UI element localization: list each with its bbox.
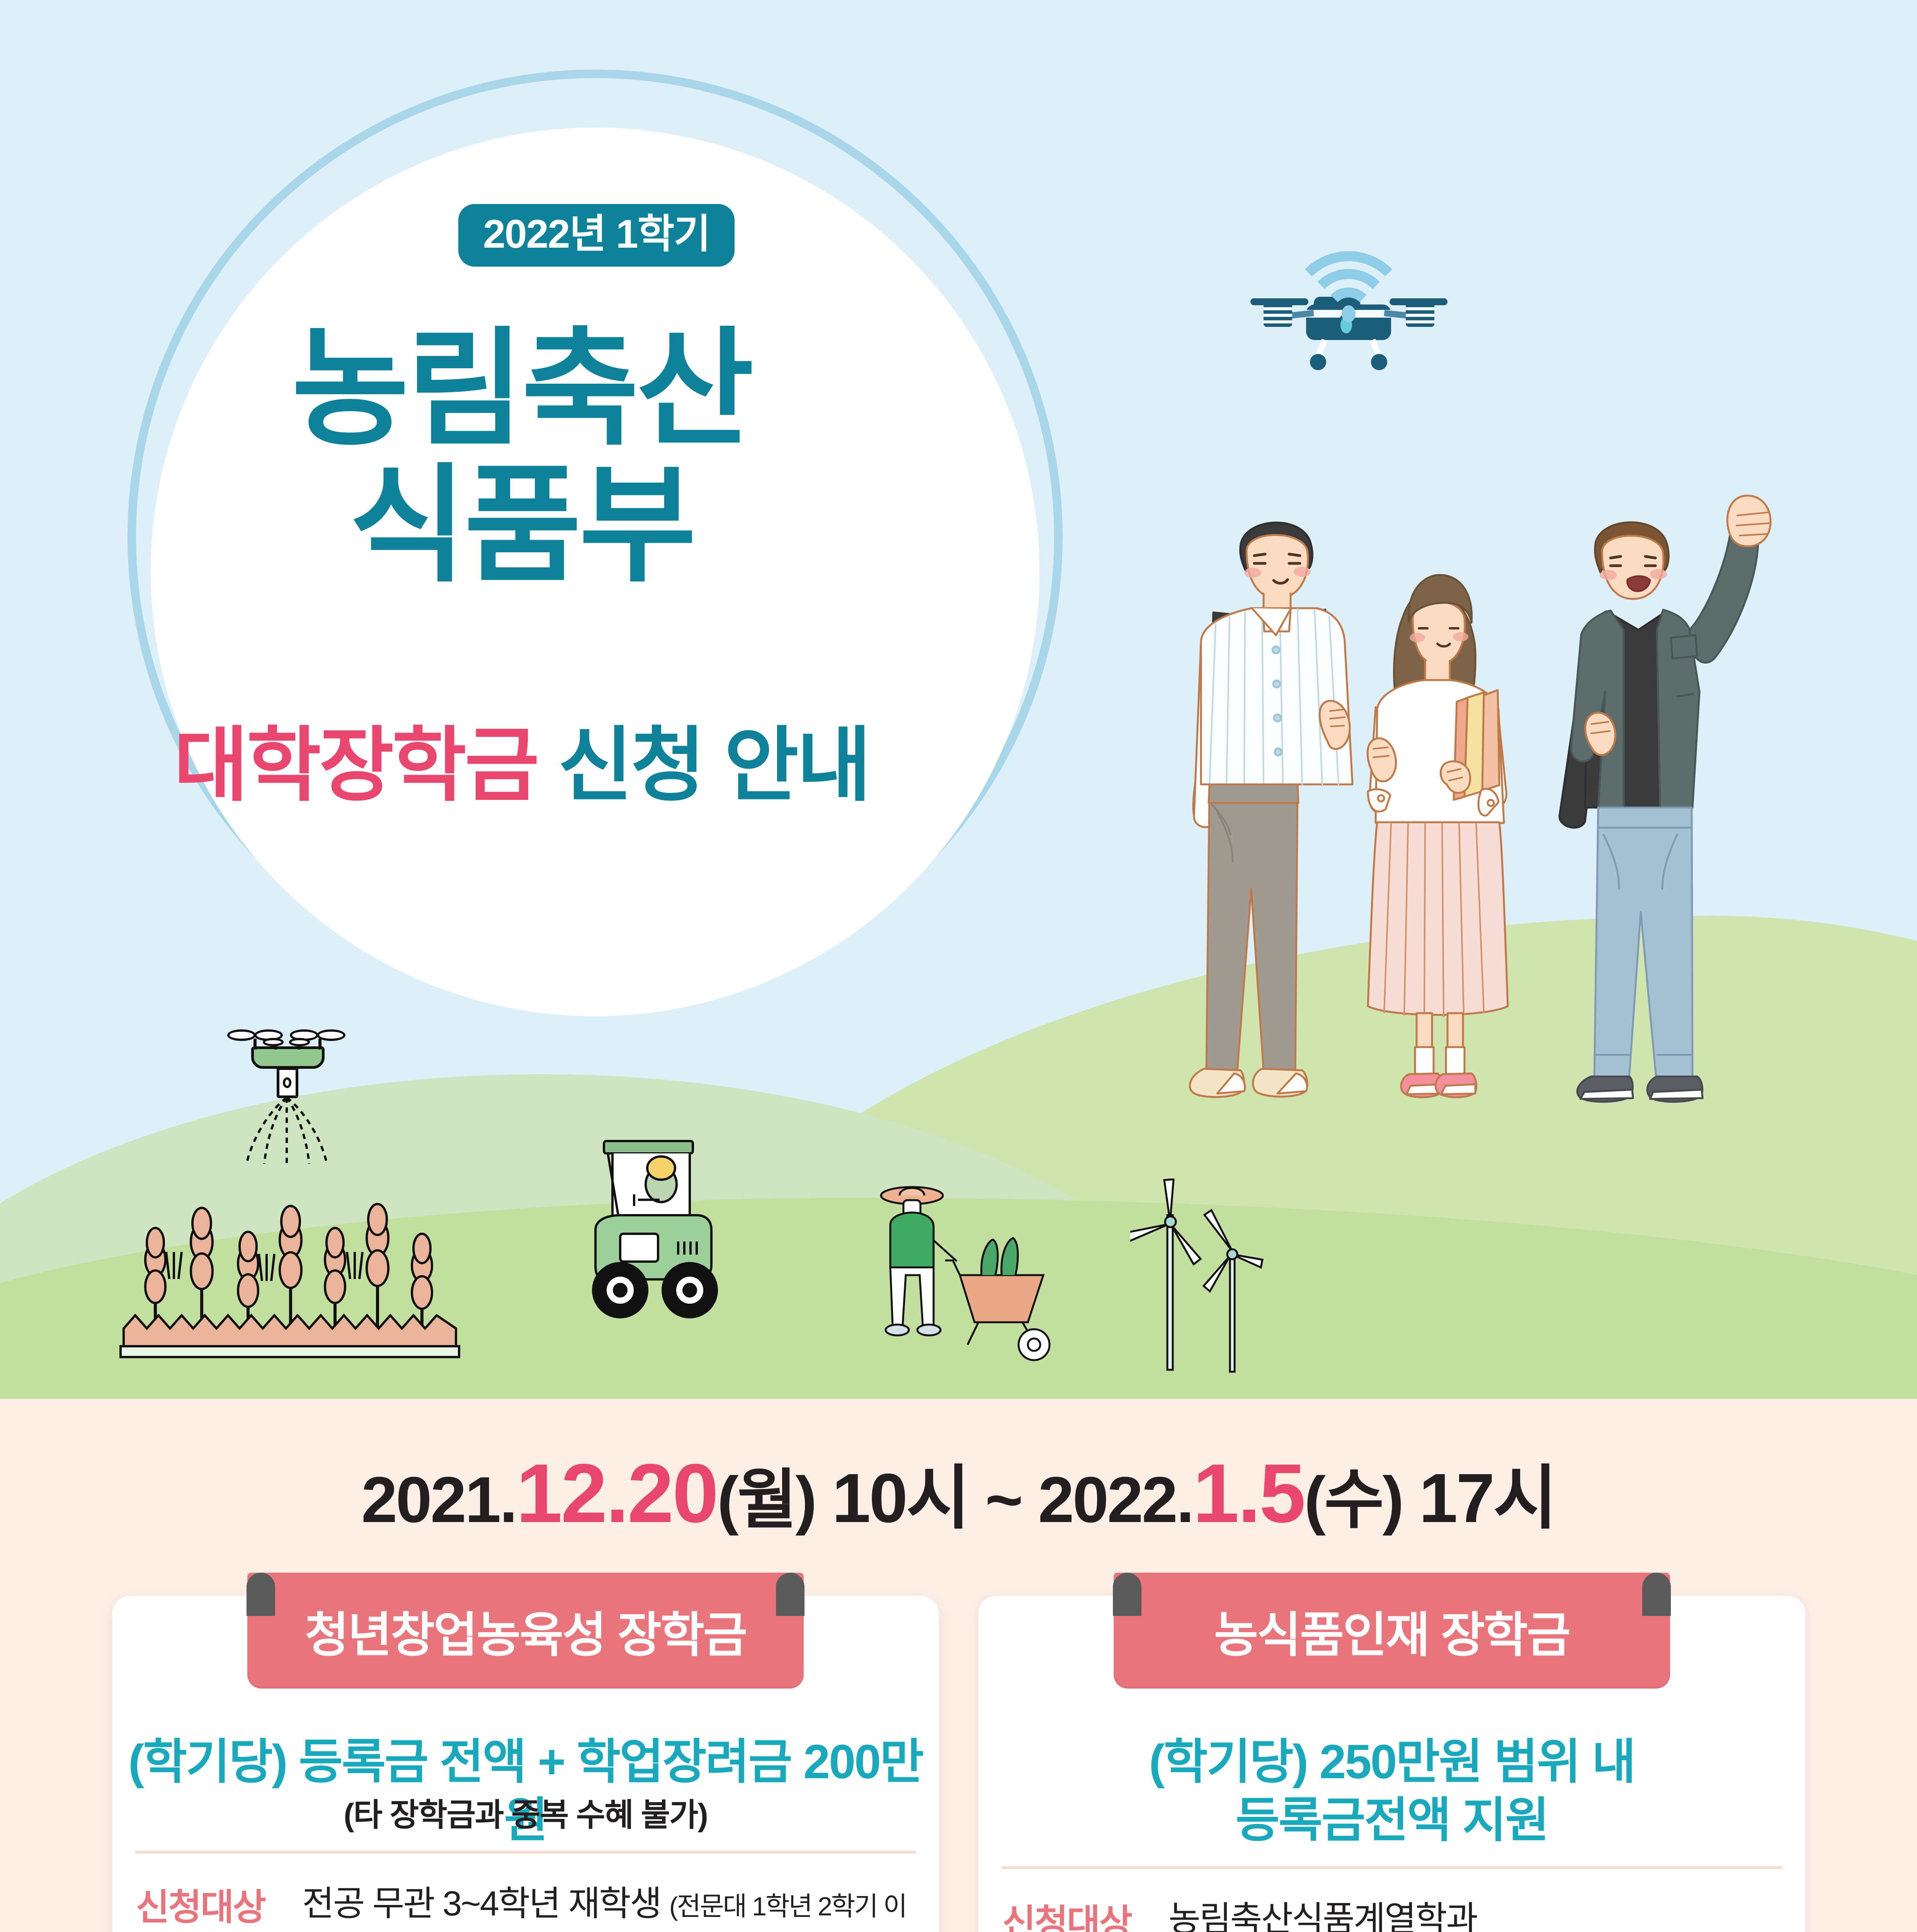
period-end-day: (수) (1304, 1463, 1402, 1536)
card-ribbon: 농식품인재 장학금 (1114, 1573, 1670, 1689)
row-label: 신청대상 (1002, 1893, 1169, 1932)
page-title: 농림축산 식품부 (0, 321, 1043, 594)
wheat-field-icon (116, 1182, 464, 1376)
semester-badge: 2022년 1학기 (458, 204, 735, 267)
subtitle-rest: 신청 안내 (558, 720, 869, 811)
title-line-2: 식품부 (0, 457, 1043, 594)
page-subtitle: 대학장학금 신청 안내 (0, 699, 1043, 817)
period-start-day: (월) (717, 1463, 815, 1536)
card-amount: (학기당) 250만원 범위 내 등록금전액 지원 (978, 1733, 1805, 1850)
row-body: 전공 무관 3~4학년 재학생 (전문대 1학년 2학기 이상) (302, 1878, 924, 1932)
farmer-with-wheelbarrow-icon (866, 1179, 1082, 1372)
detail-row-eligibility-target: 신청대상 농림축산식품계열학과 1학년 2학기~2학년 2학기 재학생 (전문대… (1002, 1893, 1790, 1932)
spray-drone-icon (185, 1016, 386, 1179)
period-start-year: 2021. (361, 1463, 516, 1536)
card-amount-note: (타 장학금과 중복 수혜 불가) (112, 1789, 939, 1835)
row-text: 전공 무관 3~4학년 재학생 (302, 1884, 661, 1923)
card-title: 농식품인재 장학금 (1214, 1596, 1570, 1665)
subtitle-highlight: 대학장학금 (174, 720, 538, 811)
tractor-icon (562, 1138, 779, 1339)
row-body: 농림축산식품계열학과 1학년 2학기~2학년 2학기 재학생 (전문대 제외) (1169, 1893, 1770, 1932)
card-divider (1002, 1866, 1782, 1869)
card-amount-line-2: 등록금전액 지원 (978, 1791, 1805, 1850)
detail-row-eligibility-target: 신청대상 전공 무관 3~4학년 재학생 (전문대 1학년 2학기 이상) (136, 1878, 924, 1932)
card-amount-line-1: (학기당) 250만원 범위 내 (978, 1733, 1805, 1791)
ribbon-tab-right-icon (1642, 1573, 1671, 1616)
card-detail-rows: 신청대상 농림축산식품계열학과 1학년 2학기~2학년 2학기 재학생 (전문대… (1002, 1893, 1790, 1932)
period-end-year: 2022. (1038, 1463, 1192, 1536)
ribbon-tab-right-icon (776, 1573, 805, 1616)
period-start-date: 12.20 (516, 1446, 717, 1540)
card-title: 청년창업농육성 장학금 (305, 1596, 746, 1665)
scholarship-card-agrifood-talent: 농식품인재 장학금 (학기당) 250만원 범위 내 등록금전액 지원 신청대상… (978, 1596, 1805, 1932)
application-period: 2021.12.20(월) 10시 ~ 2022.1.5(수) 17시 (0, 1441, 1917, 1542)
header-sky-panel: 2022년 1학기 농림축산 식품부 대학장학금 신청 안내 (0, 0, 1917, 1399)
scholarship-card-youth-startup: 청년창업농육성 장학금 (학기당) 등록금 전액 + 학업장려금 200만원 (… (112, 1596, 939, 1932)
card-ribbon: 청년창업농육성 장학금 (247, 1573, 804, 1689)
card-divider (135, 1851, 916, 1854)
ribbon-tab-left-icon (1113, 1573, 1141, 1616)
period-start-time: 10시 (832, 1459, 969, 1537)
row-text: 농림축산식품계열학과 (1169, 1895, 1770, 1932)
period-separator: ~ (985, 1463, 1022, 1536)
period-end-time: 17시 (1419, 1459, 1556, 1537)
period-end-date: 1.5 (1193, 1446, 1304, 1540)
card-detail-rows: 신청대상 전공 무관 3~4학년 재학생 (전문대 1학년 2학기 이상) 신청… (136, 1878, 924, 1932)
poster-root: 2022년 1학기 농림축산 식품부 대학장학금 신청 안내 2021.12.2… (0, 0, 1917, 1932)
wifi-signal-icon (1287, 251, 1410, 317)
three-students-illustration (1136, 475, 1832, 1209)
title-line-1: 농림축산 (0, 321, 1043, 457)
ribbon-tab-left-icon (247, 1573, 275, 1616)
row-label: 신청대상 (136, 1878, 302, 1932)
